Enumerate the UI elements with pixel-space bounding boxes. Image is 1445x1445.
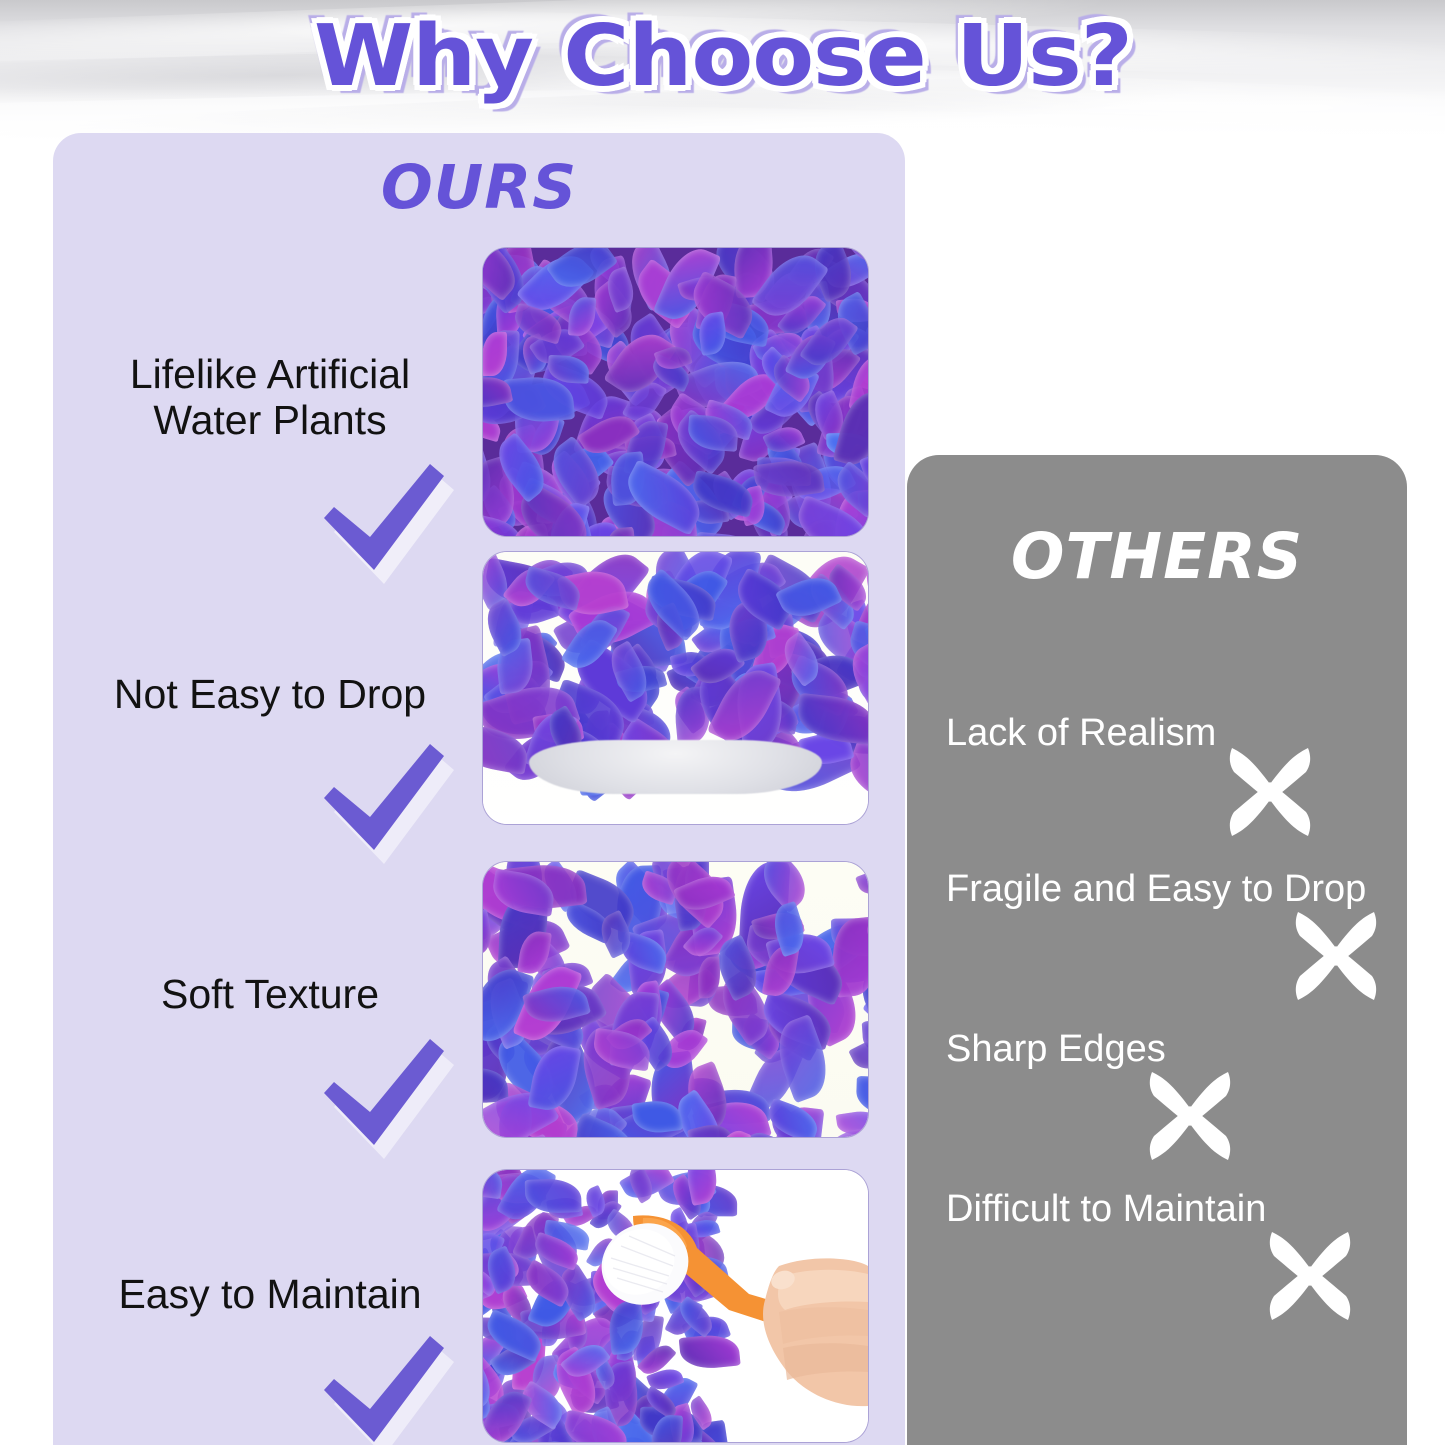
others-item-2: Fragile and Easy to Drop [946, 868, 1366, 911]
others-heading: OTHERS [907, 520, 1407, 593]
ours-item-1: Lifelike ArtificialWater Plants [70, 352, 470, 444]
product-photo-1 [483, 248, 868, 536]
check-icon [318, 460, 450, 578]
x-icon [1222, 744, 1318, 840]
others-item-4: Difficult to Maintain [946, 1188, 1266, 1231]
others-item-4-label: Difficult to Maintain [946, 1188, 1266, 1231]
product-photo-4 [483, 1170, 868, 1442]
cleaning-brush-and-hand [483, 1170, 868, 1442]
ours-item-4-label: Easy to Maintain [70, 1272, 470, 1318]
ours-heading: OURS [53, 152, 905, 223]
page-title: Why Choose Us? [0, 14, 1445, 99]
x-icon [1288, 908, 1384, 1004]
x-icon [1142, 1068, 1238, 1164]
check-icon [318, 1035, 450, 1153]
x-icon [1262, 1228, 1358, 1324]
check-icon [318, 740, 450, 858]
others-item-1: Lack of Realism [946, 712, 1216, 755]
plant-base [529, 740, 822, 794]
leaf-shape [856, 1076, 868, 1116]
others-item-3-label: Sharp Edges [946, 1028, 1166, 1071]
product-photo-2 [483, 552, 868, 824]
page-title-text: Why Choose Us? [313, 14, 1131, 99]
brush-icon [589, 1210, 783, 1322]
hand-icon [763, 1258, 868, 1406]
ours-item-2-label: Not Easy to Drop [70, 672, 470, 718]
others-item-3: Sharp Edges [946, 1028, 1166, 1071]
leaf-shape [855, 864, 868, 900]
others-item-1-label: Lack of Realism [946, 712, 1216, 755]
ours-item-2: Not Easy to Drop [70, 672, 470, 718]
infographic-canvas: Why Choose Us? OURS OTHERS Lifelike Arti… [0, 0, 1445, 1445]
ours-item-3: Soft Texture [70, 972, 470, 1018]
check-icon [318, 1332, 450, 1445]
product-photo-3 [483, 862, 868, 1137]
ours-item-3-label: Soft Texture [70, 972, 470, 1018]
others-item-2-label: Fragile and Easy to Drop [946, 868, 1366, 911]
ours-item-1-label: Lifelike ArtificialWater Plants [70, 352, 470, 444]
ours-item-4: Easy to Maintain [70, 1272, 470, 1318]
